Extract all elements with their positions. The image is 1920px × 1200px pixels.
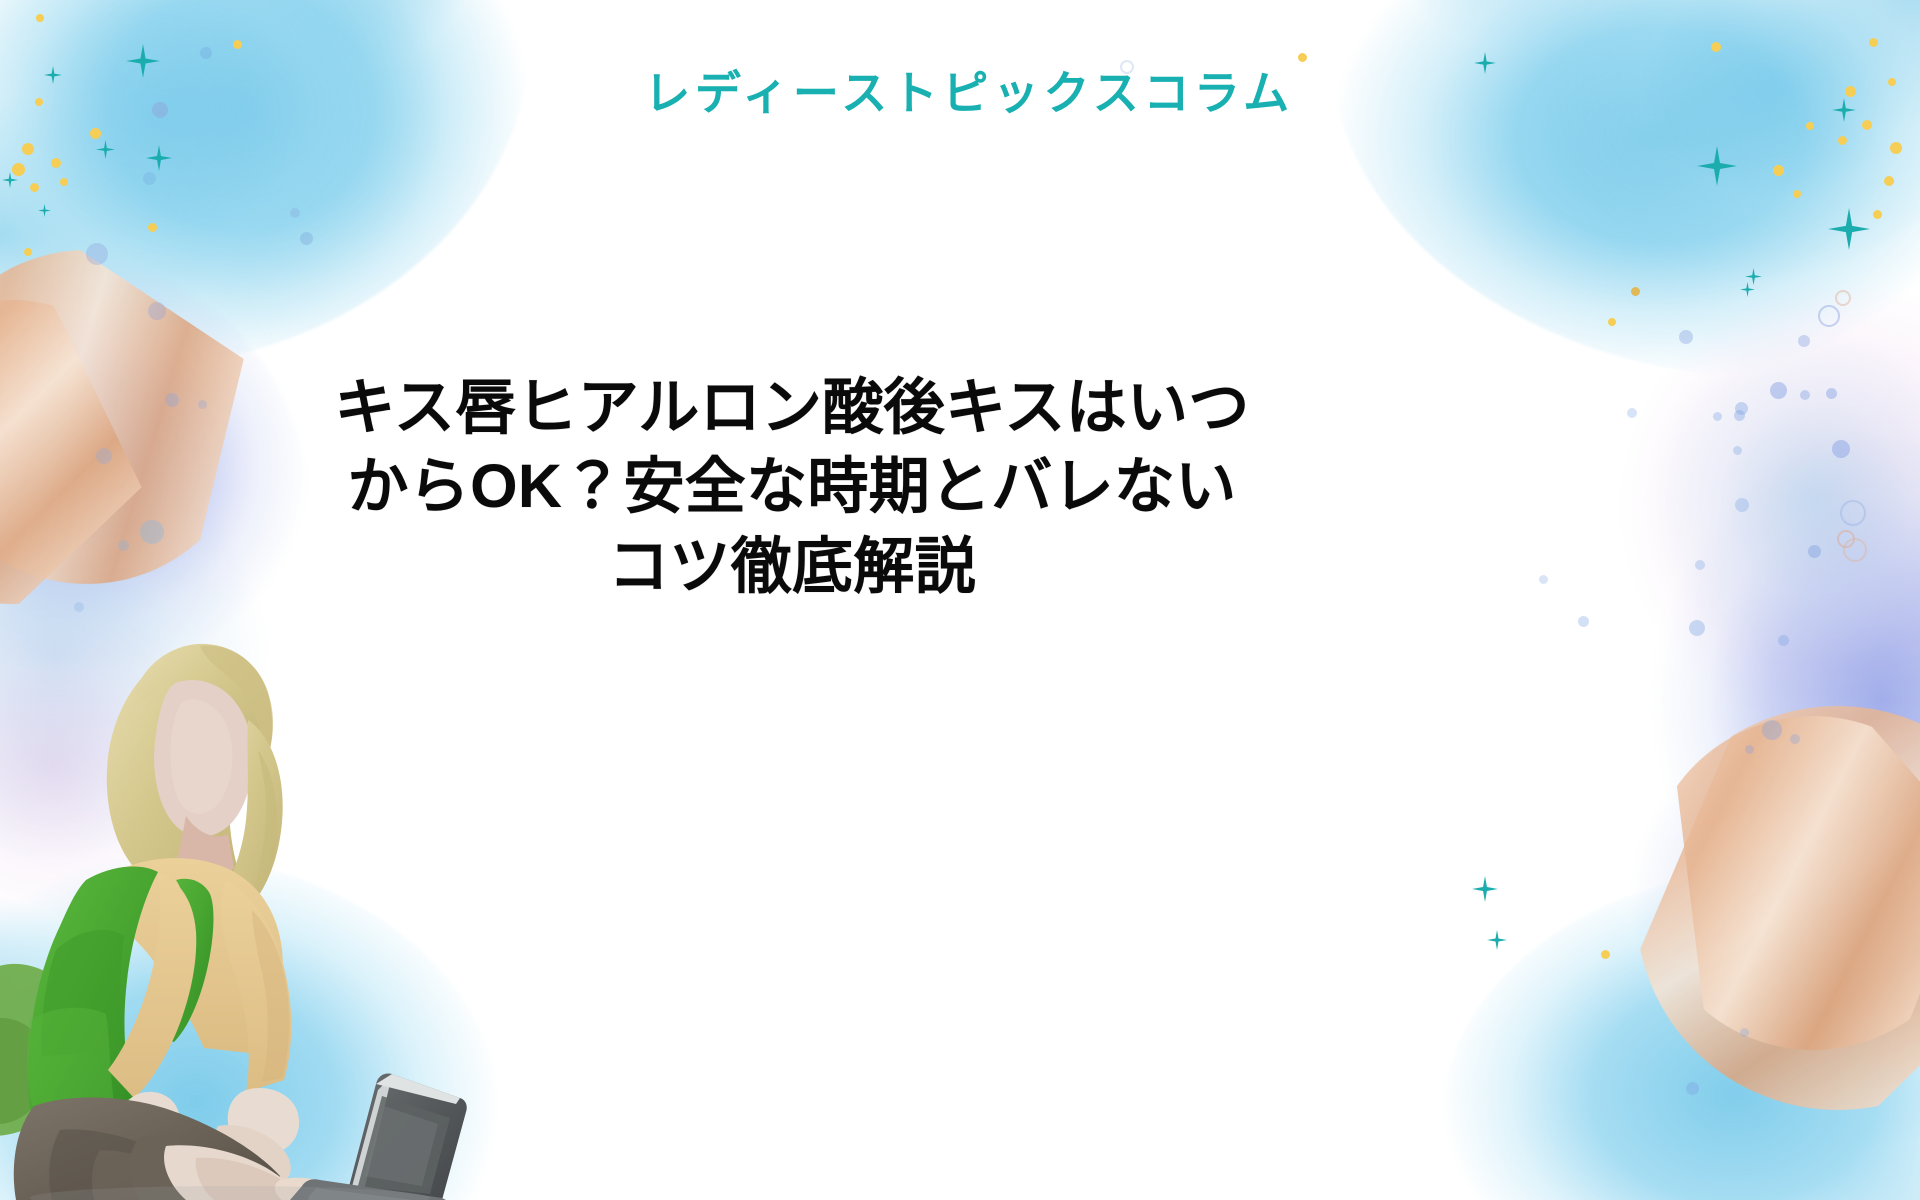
bubble-dot bbox=[1770, 382, 1787, 399]
sparkle-star-icon bbox=[1745, 268, 1762, 285]
bubble-dot bbox=[140, 520, 164, 544]
bubble-dot bbox=[1745, 745, 1754, 754]
sparkle-star-icon bbox=[1740, 282, 1755, 297]
bubble-dot bbox=[1832, 440, 1850, 458]
bubble-dot bbox=[1790, 734, 1800, 744]
page-title-line-1: キス唇ヒアルロン酸後キスはいつ bbox=[292, 368, 1292, 447]
ink-blob-right-purple bbox=[1590, 430, 1920, 970]
confetti-dot bbox=[36, 14, 44, 22]
confetti-dot bbox=[12, 163, 25, 176]
confetti-dot bbox=[1773, 165, 1784, 176]
confetti-dot bbox=[1862, 120, 1872, 130]
bubble-dot bbox=[1762, 720, 1782, 740]
bubble-dot bbox=[96, 448, 112, 464]
confetti-dot bbox=[148, 223, 157, 232]
bubble-dot bbox=[300, 232, 313, 245]
ink-blob-right-pink bbox=[1600, 280, 1920, 750]
bubble-dot bbox=[1735, 498, 1749, 512]
bubble-dot bbox=[1800, 390, 1810, 400]
confetti-dot bbox=[1806, 122, 1814, 130]
page-title: キス唇ヒアルロン酸後キスはいつ からOK？安全な時期とバレない コツ徹底解説 bbox=[292, 368, 1292, 606]
bubble-ring bbox=[1840, 500, 1866, 526]
confetti-dot bbox=[24, 248, 32, 256]
bubble-dot bbox=[1735, 402, 1748, 415]
sparkle-star-icon bbox=[1697, 146, 1737, 186]
bubble-dot bbox=[1808, 545, 1821, 558]
confetti-dot bbox=[1711, 42, 1721, 52]
confetti-dot bbox=[1890, 142, 1902, 154]
bubble-dot bbox=[1539, 575, 1548, 584]
bubble-ring bbox=[1835, 290, 1851, 306]
confetti-dot bbox=[1631, 287, 1640, 296]
confetti-dot bbox=[60, 178, 68, 186]
confetti-dot bbox=[1298, 53, 1307, 62]
sparkle-star-icon bbox=[1472, 876, 1498, 902]
confetti-dot bbox=[51, 158, 61, 168]
bubble-dot bbox=[1695, 560, 1705, 570]
ink-blob-right-lower bbox=[1630, 700, 1920, 1080]
bubble-dot bbox=[1679, 330, 1693, 344]
thumbnail-canvas: レディーストピックスコラム キス唇ヒアルロン酸後キスはいつ からOK？安全な時期… bbox=[0, 0, 1920, 1200]
bubble-dot bbox=[1713, 412, 1722, 421]
bubble-dot bbox=[148, 302, 166, 320]
sparkle-star-icon bbox=[38, 204, 51, 217]
bubble-dot bbox=[1686, 1082, 1699, 1095]
bubble-dot bbox=[1798, 335, 1810, 347]
eyebrow-label: レディーストピックスコラム bbox=[0, 68, 1920, 119]
bubble-dot bbox=[86, 243, 108, 265]
bubble-dot bbox=[1734, 410, 1745, 421]
bubble-dot bbox=[1740, 1028, 1749, 1037]
sparkle-star-icon bbox=[1828, 208, 1870, 250]
watercolor-wash-top-right-soft bbox=[1490, 0, 1920, 280]
bubble-dot bbox=[143, 172, 156, 185]
sparkle-star-icon bbox=[2, 172, 18, 188]
confetti-dot bbox=[22, 143, 34, 155]
bubble-dot bbox=[1689, 620, 1705, 636]
confetti-dot bbox=[1838, 136, 1847, 145]
bubble-dot bbox=[165, 393, 179, 407]
bubble-dot bbox=[1826, 388, 1837, 399]
confetti-dot bbox=[1873, 210, 1882, 219]
sparkle-star-icon bbox=[146, 145, 172, 171]
bubble-ring bbox=[1837, 530, 1855, 548]
bubble-dot bbox=[198, 400, 207, 409]
watercolor-wash-top-left bbox=[0, 0, 530, 370]
watercolor-wash-top-left-soft bbox=[0, 0, 440, 350]
bubble-dot bbox=[1627, 408, 1637, 418]
glitter-strand-right-1 bbox=[1575, 645, 1920, 1171]
page-title-line-3: コツ徹底解説 bbox=[292, 527, 1292, 606]
confetti-dot bbox=[1608, 318, 1616, 326]
confetti-dot bbox=[1869, 38, 1878, 47]
bubble-ring bbox=[1818, 305, 1840, 327]
watercolor-wash-bottom-right bbox=[1440, 870, 1920, 1200]
page-title-line-2: からOK？安全な時期とバレない bbox=[292, 447, 1292, 526]
confetti-dot bbox=[1884, 176, 1894, 186]
glitter-strand-right-2 bbox=[1624, 694, 1920, 1071]
watercolor-wash-top-right bbox=[1330, 0, 1920, 380]
bubble-ring bbox=[1843, 538, 1867, 562]
confetti-dot bbox=[90, 128, 101, 139]
bubble-dot bbox=[1578, 616, 1589, 627]
confetti-dot bbox=[233, 40, 242, 49]
illustration-woman-with-laptop bbox=[0, 550, 690, 1200]
bubble-dot bbox=[290, 208, 300, 218]
confetti-dot bbox=[1793, 190, 1801, 198]
ink-blob-right-blue bbox=[1650, 330, 1920, 670]
bubble-dot bbox=[200, 47, 212, 59]
bubble-dot bbox=[1778, 635, 1789, 646]
bubble-dot bbox=[1733, 446, 1742, 455]
confetti-dot bbox=[30, 183, 39, 192]
sparkle-star-icon bbox=[1487, 930, 1507, 950]
sparkle-star-icon bbox=[96, 140, 115, 159]
confetti-dot bbox=[1601, 950, 1610, 959]
